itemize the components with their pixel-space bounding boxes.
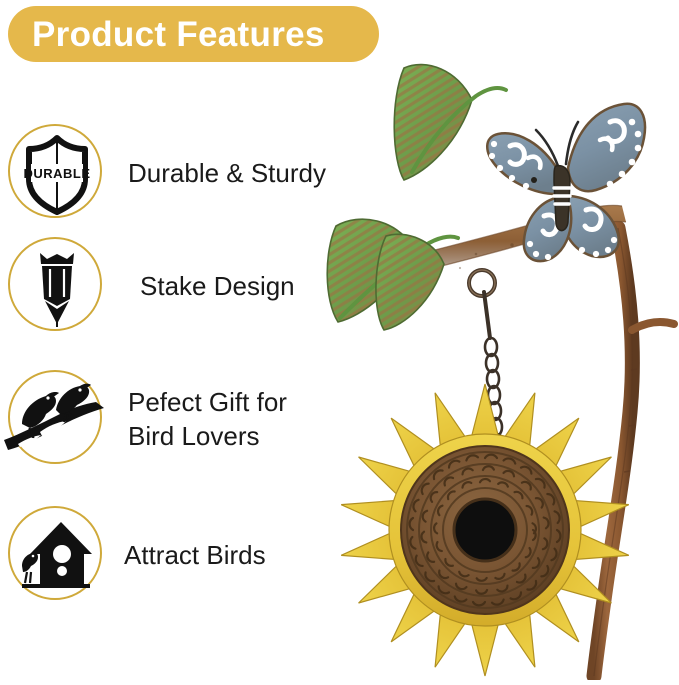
page-title: Product Features (32, 17, 325, 52)
main-stake-stem (594, 228, 632, 676)
metal-leaf-upper (380, 50, 506, 200)
ground-stake-icon (0, 229, 114, 343)
two-birds-on-branch-icon (0, 362, 114, 476)
feature-label-gift: Pefect Gift for Bird Lovers (128, 385, 287, 454)
hanging-ring (469, 270, 495, 296)
product-image (300, 40, 679, 680)
hanging-rod (484, 292, 490, 338)
feature-label-stake: Stake Design (140, 269, 295, 303)
birdhouse-icon (0, 498, 114, 612)
feature-label-durable: Durable & Sturdy (128, 156, 326, 190)
feature-icon-container (0, 498, 114, 612)
feature-icon-container (0, 229, 114, 343)
shield-durable-icon: DURABLE (0, 116, 114, 230)
feature-icon-container: DURABLE (0, 116, 114, 230)
feature-label-attract: Attract Birds (124, 538, 266, 572)
side-twig (632, 322, 674, 330)
shield-icon-text: DURABLE (23, 166, 90, 181)
feature-icon-container (0, 362, 114, 476)
sunflower-feeder (337, 384, 632, 676)
sunflower-bird-feeder-illustration (300, 40, 679, 680)
